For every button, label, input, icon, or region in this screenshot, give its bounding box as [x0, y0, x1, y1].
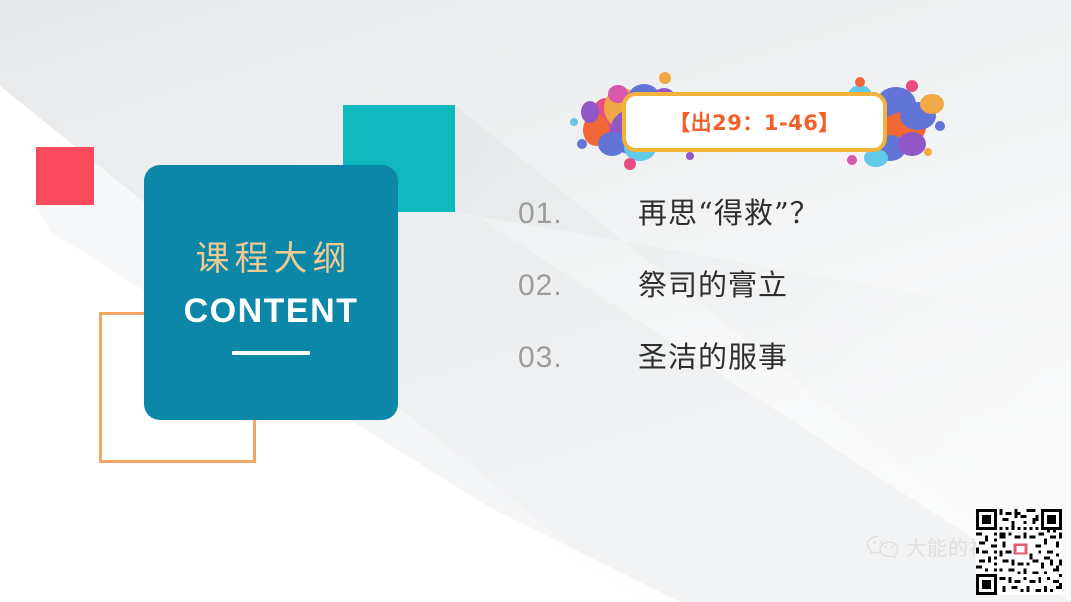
- outline-item-number: 02.: [518, 269, 638, 303]
- outline-item[interactable]: 01. 再思“得救”？: [518, 190, 948, 262]
- wechat-icon: [866, 534, 900, 560]
- outline-item[interactable]: 03. 圣洁的服事: [518, 334, 948, 406]
- outline-item-number: 01.: [518, 197, 638, 231]
- card-title-chinese: 课程大纲: [191, 231, 352, 280]
- outline-item-label: 再思“得救”？: [638, 190, 820, 232]
- content-card: 课程大纲 CONTENT: [144, 165, 398, 420]
- outline-item-label: 圣洁的服事: [638, 334, 788, 376]
- scripture-banner: 【出29：1-46】: [560, 60, 960, 175]
- outline-list: 01. 再思“得救”？ 02. 祭司的膏立 03. 圣洁的服事: [518, 190, 948, 406]
- slide-canvas: 课程大纲 CONTENT: [0, 0, 1071, 602]
- card-title-english: CONTENT: [184, 292, 359, 331]
- decor-red-square: [36, 147, 94, 205]
- outline-item-number: 03.: [518, 341, 638, 375]
- card-underline-rule: [232, 351, 310, 355]
- scripture-reference-text: 【出29：1-46】: [669, 107, 840, 137]
- outline-item-label: 祭司的膏立: [638, 262, 788, 304]
- qr-code-icon: [976, 509, 1062, 595]
- scripture-reference-box: 【出29：1-46】: [622, 92, 887, 152]
- outline-item[interactable]: 02. 祭司的膏立: [518, 262, 948, 334]
